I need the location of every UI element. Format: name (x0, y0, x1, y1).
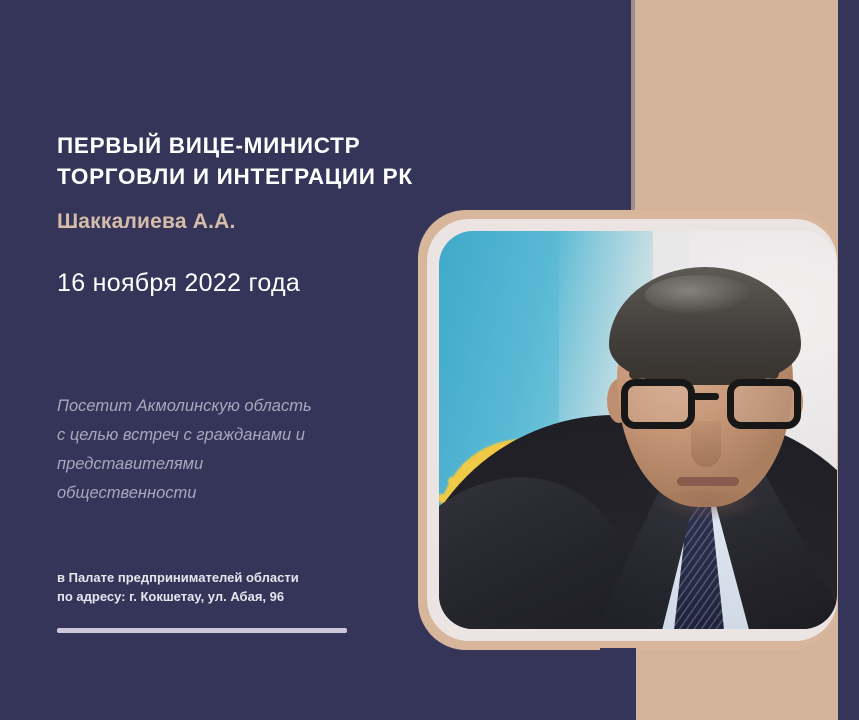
portrait-card-inner-border (427, 219, 837, 641)
portrait-card (418, 210, 838, 650)
event-address: в Палате предпринимателей области по адр… (57, 568, 357, 606)
address-line-2: по адресу: г. Кокшетау, ул. Абая, 96 (57, 587, 357, 606)
hair-highlight (645, 275, 753, 315)
glasses-bridge (693, 393, 719, 400)
navy-right-strip (838, 0, 859, 720)
person-name: Шаккалиева А.А. (57, 210, 236, 234)
divider (57, 628, 347, 633)
page-title: ПЕРВЫЙ ВИЦЕ-МИНИСТР ТОРГОВЛИ И ИНТЕГРАЦИ… (57, 130, 477, 192)
address-line-1: в Палате предпринимателей области (57, 568, 357, 587)
navy-notch (600, 648, 636, 720)
announcement-poster: ПЕРВЫЙ ВИЦЕ-МИНИСТР ТОРГОВЛИ И ИНТЕГРАЦИ… (0, 0, 859, 720)
eyeglasses (621, 379, 797, 433)
event-description: Посетит Акмолинскую область с целью встр… (57, 392, 319, 508)
event-date: 16 ноября 2022 года (57, 269, 300, 298)
chin-shadow (653, 489, 763, 521)
mouth (677, 477, 739, 486)
glasses-lens-right (727, 379, 801, 429)
portrait-photo (439, 231, 837, 629)
glasses-lens-left (621, 379, 695, 429)
